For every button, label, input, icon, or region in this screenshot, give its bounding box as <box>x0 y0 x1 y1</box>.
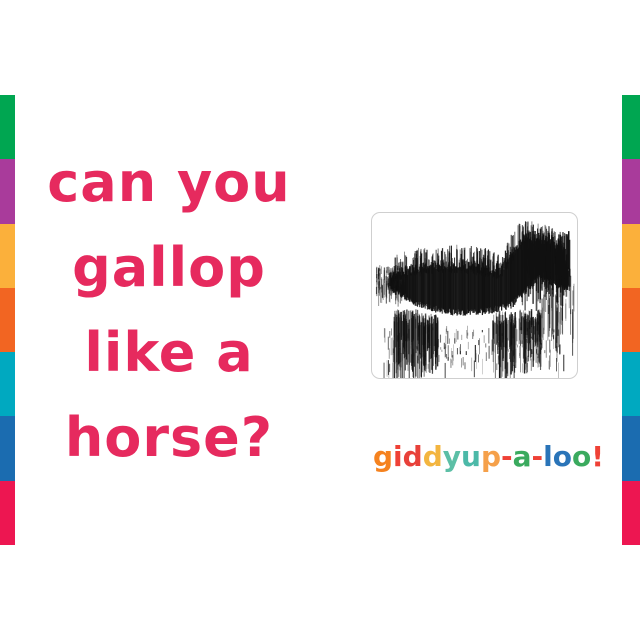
caption-letter-2: d <box>403 440 423 473</box>
horse-illustration-card <box>371 212 578 379</box>
stripe-orange <box>622 288 640 352</box>
page-root: can you gallop like a horse? giddyup-a-l… <box>0 0 640 640</box>
caption-letter-8: a <box>513 440 532 473</box>
caption-letter-1: i <box>393 440 403 473</box>
question-line-1: can you <box>34 140 304 225</box>
question-line-2: gallop <box>34 225 304 310</box>
caption-letter-4: y <box>443 440 461 473</box>
stripe-yellow <box>0 224 15 288</box>
caption-letter-13: ! <box>591 440 604 473</box>
left-color-stripe <box>0 95 15 545</box>
caption-letter-3: d <box>423 440 443 473</box>
stripe-pink <box>622 481 640 545</box>
stripe-pink <box>0 481 15 545</box>
question-text-block: can you gallop like a horse? <box>34 140 304 480</box>
caption-letter-12: o <box>572 440 591 473</box>
stripe-purple <box>622 159 640 223</box>
stripe-cyan <box>0 352 15 416</box>
caption-letter-10: l <box>543 440 553 473</box>
stripe-cyan <box>622 352 640 416</box>
caption-letter-7: - <box>501 440 513 473</box>
caption-letter-11: o <box>553 440 572 473</box>
caption-letter-6: p <box>481 440 501 473</box>
caption-letter-0: g <box>373 440 393 473</box>
right-color-stripe <box>622 95 640 545</box>
stripe-green <box>622 95 640 159</box>
question-line-3: like a <box>34 310 304 395</box>
question-line-4: horse? <box>34 395 304 480</box>
caption-letter-5: u <box>461 440 481 473</box>
caption-giddyup: giddyup-a-loo! <box>373 440 604 474</box>
caption-letter-9: - <box>532 440 544 473</box>
stripe-orange <box>0 288 15 352</box>
galloping-horse-icon <box>372 213 577 378</box>
stripe-green <box>0 95 15 159</box>
stripe-blue <box>622 416 640 480</box>
stripe-purple <box>0 159 15 223</box>
stripe-blue <box>0 416 15 480</box>
stripe-yellow <box>622 224 640 288</box>
